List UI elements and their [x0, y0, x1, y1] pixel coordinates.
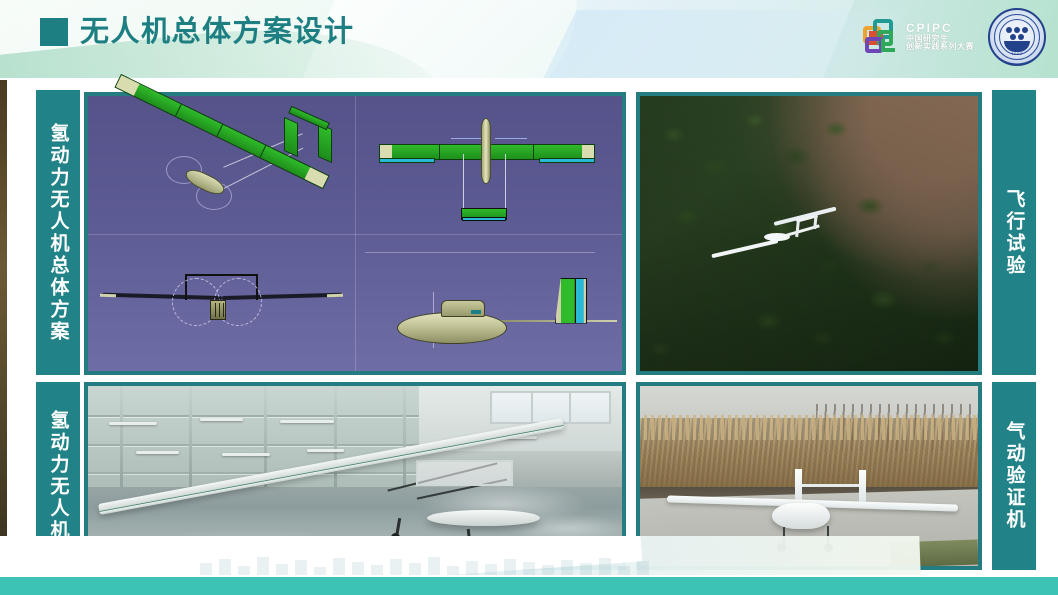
cad-canvas	[88, 96, 622, 371]
label-right-bottom-text: 气动验证机	[1005, 421, 1024, 531]
content-board: 氢动力无人机总体方案 氢动力无人机 飞行试验 气动验证机	[36, 86, 1036, 574]
university-seal-icon: 1952	[988, 8, 1046, 66]
page-title-text: 无人机总体方案设计	[80, 17, 355, 46]
left-edge-strip	[0, 80, 7, 550]
header-divider	[0, 78, 1058, 80]
cpipc-cn-line2: 创新实践系列大赛	[906, 43, 974, 51]
uav-in-flight-photo[interactable]	[636, 92, 982, 375]
uav-three-view-cad-panel[interactable]	[84, 92, 626, 375]
footer-bar	[0, 577, 1058, 595]
cad-view-top	[355, 96, 622, 234]
label-right-top-text: 飞行试验	[1005, 189, 1024, 277]
forest-background	[640, 96, 978, 371]
slide-root: 无人机总体方案设计 CPIPC 中国研究生 创新实践系列大赛 1952 氢动力无	[0, 0, 1058, 595]
flying-uav-shape	[710, 205, 840, 257]
page-title: 无人机总体方案设计	[40, 17, 355, 46]
cad-view-isometric	[88, 96, 355, 234]
cpipc-logo-text: CPIPC 中国研究生 创新实践系列大赛	[906, 22, 974, 51]
title-bullet-icon	[40, 18, 68, 46]
label-left-bottom-text: 氢动力无人机	[49, 410, 68, 542]
cad-view-side	[355, 234, 622, 372]
seal-year-text: 1952	[990, 51, 1044, 56]
cad-view-front	[88, 234, 355, 372]
cpipc-mark-icon	[861, 17, 901, 57]
label-left-top: 氢动力无人机总体方案	[36, 90, 80, 375]
label-left-top-text: 氢动力无人机总体方案	[49, 123, 68, 343]
logo-group: CPIPC 中国研究生 创新实践系列大赛 1952	[861, 8, 1046, 66]
label-right-top: 飞行试验	[992, 90, 1036, 375]
cpipc-logo: CPIPC 中国研究生 创新实践系列大赛	[861, 17, 974, 57]
footer-watermark	[200, 553, 860, 575]
